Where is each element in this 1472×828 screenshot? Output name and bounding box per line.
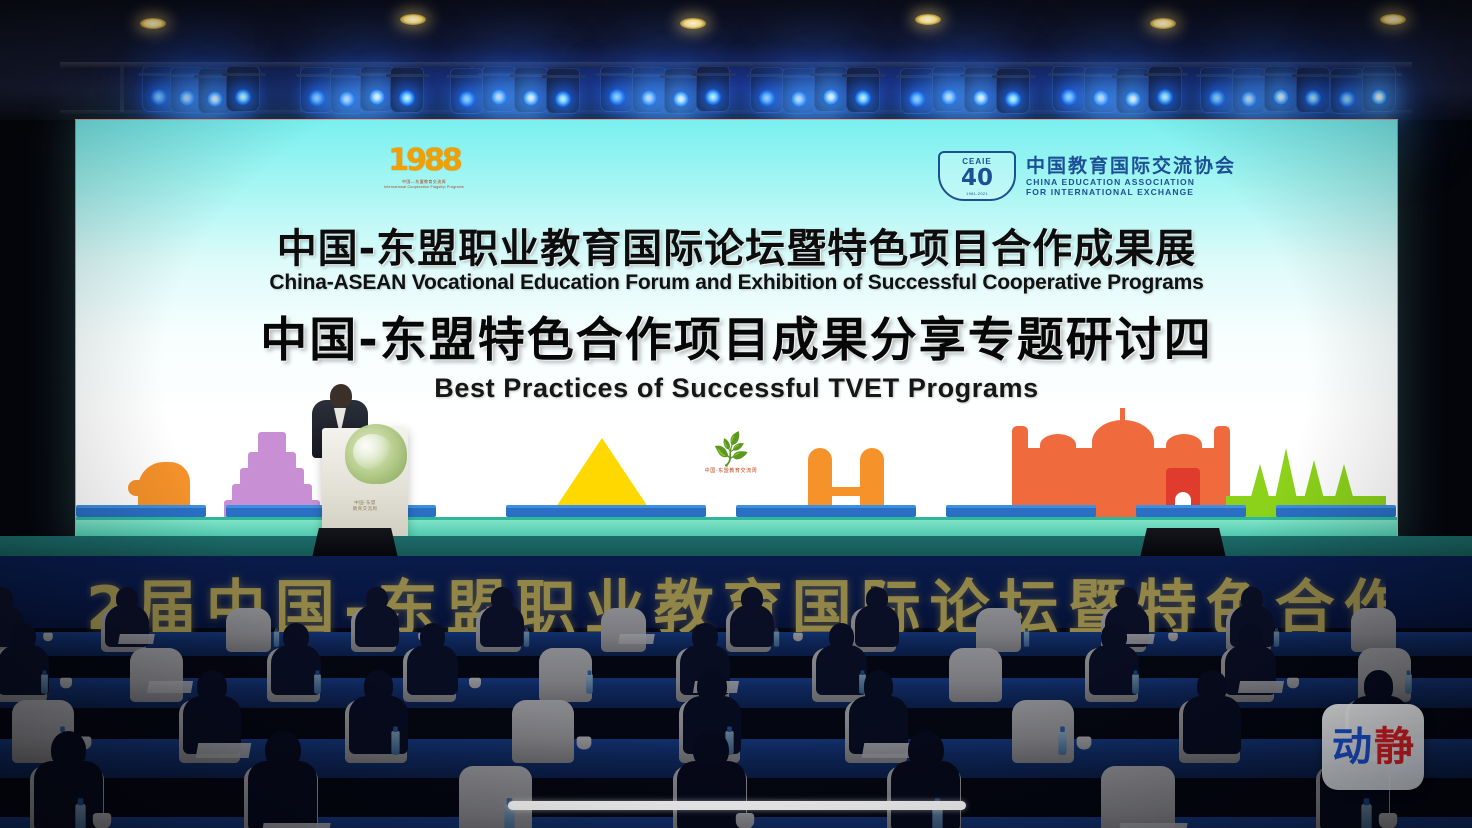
water-bottle-1-8 [1132,674,1139,694]
document-page-3-5 [1118,823,1188,828]
stage-light-7 [390,67,424,113]
tea-cup-0-6 [793,633,803,641]
downlight-1 [400,14,426,25]
ceaie-name-en-line2: FOR INTERNATIONAL EXCHANGE [1026,187,1236,197]
stage-light-13 [632,67,666,113]
channel-watermark: 动 静 [1322,704,1424,790]
audience-chair-2-3 [512,700,574,763]
stage-light-27 [1148,66,1182,112]
tea-cup-3-0 [93,813,111,828]
stage-light-10 [514,67,548,113]
train-car-4 [736,505,916,517]
stage-light-19 [846,67,880,113]
document-page-2-1 [195,743,251,758]
train-car-5 [946,505,1096,517]
audience-person-torso-1-3 [407,645,458,695]
water-bottle-2-2 [392,731,400,755]
video-progress-fill[interactable] [508,801,966,810]
ceaie-shield-icon: CEAIE 40 1981-2021 [938,151,1016,201]
train-car-0 [76,505,206,517]
tea-cup-3-3 [736,813,754,828]
audience-person-head-0-1 [116,587,138,610]
logo-exchange-week: 1988 中国—东盟教育交流周 International Cooperatio… [376,146,472,190]
watermark-char-dong: 动 [1332,727,1372,767]
audience-person-torso-0-3 [355,605,399,647]
audience-chair-1-7 [949,648,1002,702]
watermark-char-jing: 静 [1374,727,1414,767]
tea-cup-0-9 [1168,633,1178,641]
water-bottle-0-8 [1024,631,1029,647]
audience-person-torso-0-7 [855,605,899,647]
podium-flowers [345,424,407,484]
water-bottle-0-4 [524,631,529,647]
audience-person-head-2-2 [364,670,394,701]
audience-chair-1-1 [130,648,183,702]
audience-person-head-1-6 [829,623,855,650]
ceaie-name-cn: 中国教育国际交流协会 [1026,156,1236,177]
stage-light-21 [932,66,966,112]
leaf-emblem-label: 中国-东盟教育交流周 [676,467,786,474]
session-title-en: Best Practices of Successful TVET Progra… [76,372,1397,404]
audience-chair-0-2 [226,608,271,653]
audience-person-head-3-4 [908,731,944,769]
session-title-cn: 中国-东盟特色合作项目成果分享专题研讨四 [76,312,1397,370]
audience-person-head-1-9 [1238,623,1264,650]
logo-exchange-week-mark: 1988 [376,146,472,176]
water-bottle-3-6 [1361,804,1371,828]
water-bottle-0-6 [774,631,779,647]
stage-light-9 [482,66,516,112]
audience-person-torso-0-6 [730,605,774,647]
ceaie-name-en-line1: CHINA EDUCATION ASSOCIATION [1026,177,1236,187]
downlight-3 [915,14,941,25]
leaf-icon: 🌿 [712,434,750,467]
stage-light-18 [814,66,848,112]
audience-person-head-0-9 [1116,587,1138,610]
stage-light-22 [964,67,998,113]
tea-cup-2-6 [1077,737,1092,750]
stage-light-11 [546,68,580,114]
video-progress-track[interactable] [508,801,966,810]
audience-person-torso-0-4 [480,605,524,647]
train-car-6 [1136,505,1246,517]
tea-cup-1-9 [1287,678,1299,689]
water-bottle-0-2 [274,631,279,647]
audience-person-head-2-1 [197,670,227,701]
downlight-2 [680,18,706,29]
water-bottle-1-4 [587,674,594,694]
audience-person-head-1-3 [420,623,446,650]
podium-label: 中国-东盟 教育交流周 [322,500,408,512]
audience-person-torso-2-7 [1183,696,1241,754]
tea-cup-1-3 [469,678,481,689]
audience-person-head-2-5 [864,670,894,701]
audience-chair-3-2 [459,766,533,828]
audience-person-head-3-3 [693,731,729,769]
audience-area [0,556,1472,828]
tea-cup-1-0 [60,678,72,689]
audience-person-head-0-10 [1241,587,1263,610]
train-car-1 [226,505,336,517]
stage-light-23 [996,68,1030,114]
stage-monitor-left [312,528,398,558]
downlight-4 [1150,18,1176,29]
ceaie-years: 1981-2021 [940,191,1014,196]
audience-person-head-2-4 [697,670,727,701]
document-page-0-1 [118,634,154,644]
audience-person-head-1-2 [283,623,309,650]
audience-person-head-0-0 [0,587,13,610]
stage-light-15 [696,66,730,112]
stage-light-16 [750,67,784,113]
audience-person-head-0-6 [741,587,763,610]
downlight-5 [1380,14,1406,25]
stage-light-24 [1052,66,1086,112]
audience-person-head-0-3 [366,587,388,610]
stage-light-6 [360,66,394,112]
audience-person-head-1-5 [692,623,718,650]
asean-skyline-graphic: 🌿 中国-东盟教育交流周 [76,426,1397,536]
document-page-1-1 [147,681,193,693]
audience-chair-1-4 [539,648,592,702]
ceaie-anniversary-number: 40 [940,167,1014,190]
forum-title-cn: 中国-东盟职业教育国际论坛暨特色项目合作成果展 [76,226,1397,272]
audience-person-head-0-7 [866,587,888,610]
audience-chair-0-5 [601,608,646,653]
water-bottle-3-0 [75,804,85,828]
downlight-0 [140,18,166,29]
speaker-head [330,384,352,408]
audience-person-head-3-0 [51,731,87,769]
tea-cup-3-6 [1379,813,1397,828]
audience-person-head-2-7 [1197,670,1227,701]
video-frame: 1988 中国—东盟教育交流周 International Cooperatio… [0,0,1472,828]
water-bottle-1-2 [314,674,321,694]
audience-person-head-0-4 [491,587,513,610]
document-page-3-1 [261,823,331,828]
audience-person-head-3-1 [265,731,301,769]
water-bottle-1-0 [41,674,48,694]
audience-chair-0-8 [976,608,1021,653]
train-car-3 [506,505,706,517]
document-page-1-9 [1238,681,1284,693]
stage-light-33 [1362,66,1396,112]
stage-monitor-right [1140,528,1226,558]
tea-cup-2-3 [577,737,592,750]
stage-light-25 [1084,67,1118,113]
forum-title-en: China-ASEAN Vocational Education Forum a… [76,270,1397,296]
train-car-7 [1276,505,1396,517]
water-bottle-1-10 [1405,674,1412,694]
stage-light-28 [1200,67,1234,113]
logo-ceaie: CEAIE 40 1981-2021 中国教育国际交流协会 CHINA EDUC… [938,148,1278,204]
logo-exchange-week-en: International Cooperation Flagship Progr… [376,185,472,190]
audience-person-torso-3-4 [891,761,960,828]
water-bottle-2-6 [1058,731,1066,755]
stage-light-4 [300,67,334,113]
tea-cup-0-0 [43,633,53,641]
stage-light-30 [1264,66,1298,112]
audience-person-torso-3-1 [248,761,317,828]
water-bottle-0-10 [1274,631,1279,647]
led-screen: 1988 中国—东盟教育交流周 International Cooperatio… [75,119,1398,537]
audience-person-head-1-0 [11,623,37,650]
stage-light-3 [226,66,260,112]
truss-post-0 [120,64,124,112]
exchange-week-leaf-emblem: 🌿 中国-东盟教育交流周 [676,439,786,474]
audience-person-head-1-8 [1101,623,1127,650]
stage-light-12 [600,66,634,112]
audience-chair-3-5 [1101,766,1175,828]
document-page-0-5 [618,634,654,644]
screen-titles: 中国-东盟职业教育国际论坛暨特色项目合作成果展 China-ASEAN Voca… [76,226,1397,404]
stage-light-31 [1296,67,1330,113]
audience-chair-0-11 [1351,608,1396,653]
screen-logos: 1988 中国—东盟教育交流周 International Cooperatio… [76,146,1397,212]
audience-person-head-2-8 [1364,670,1394,701]
